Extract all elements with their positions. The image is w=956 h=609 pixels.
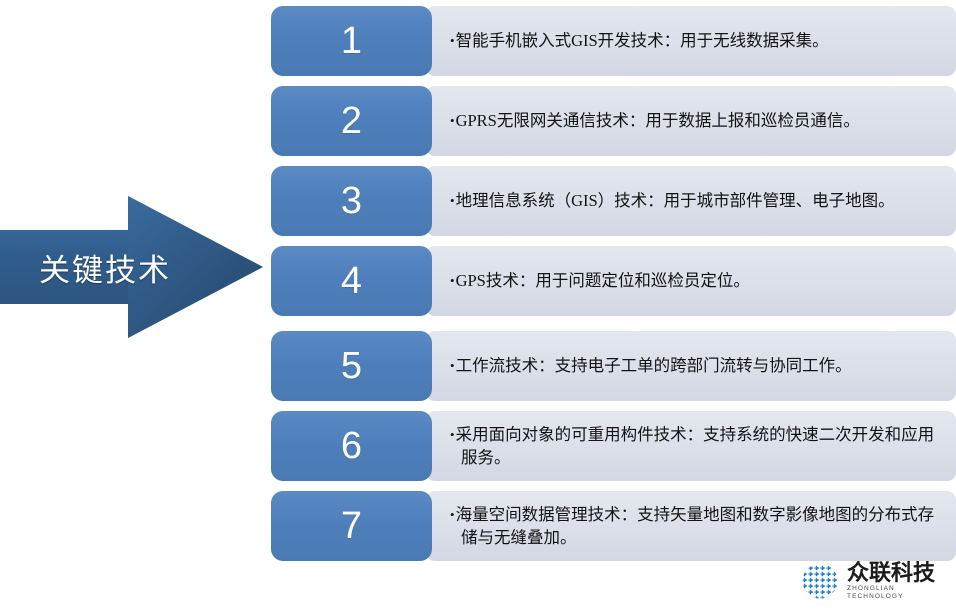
list-item-text-panel: GPRS无限网关通信技术：用于数据上报和巡检员通信。 bbox=[426, 86, 956, 156]
list-item-text: 工作流技术：支持电子工单的跨部门流转与协同工作。 bbox=[450, 354, 852, 377]
list-item-text: 采用面向对象的可重用构件技术：支持系统的快速二次开发和应用服务。 bbox=[450, 423, 942, 470]
list-item-number-badge: 6 bbox=[271, 411, 432, 481]
arrow-label: 关键技术 bbox=[0, 194, 210, 340]
list-item-text: GPRS无限网关通信技术：用于数据上报和巡检员通信。 bbox=[450, 109, 860, 132]
list-item-text-panel: 工作流技术：支持电子工单的跨部门流转与协同工作。 bbox=[426, 331, 956, 401]
list-item-number-badge: 3 bbox=[271, 166, 432, 236]
list-item[interactable]: 2 GPRS无限网关通信技术：用于数据上报和巡检员通信。 bbox=[271, 86, 956, 156]
list-item-number-badge: 2 bbox=[271, 86, 432, 156]
list-item-number-badge: 5 bbox=[271, 331, 432, 401]
list-item-text-panel: 智能手机嵌入式GIS开发技术：用于无线数据采集。 bbox=[426, 6, 956, 76]
list-item-text-panel: GPS技术：用于问题定位和巡检员定位。 bbox=[426, 246, 956, 316]
logo-company-name: 众联科技 bbox=[847, 561, 952, 584]
list-item-text-panel: 地理信息系统（GIS）技术：用于城市部件管理、电子地图。 bbox=[426, 166, 956, 236]
key-technology-list: 1 智能手机嵌入式GIS开发技术：用于无线数据采集。 2 GPRS无限网关通信技… bbox=[271, 0, 956, 570]
dotted-globe-icon bbox=[800, 561, 840, 601]
list-item-number: 2 bbox=[341, 102, 362, 140]
list-item-number-badge: 7 bbox=[271, 491, 432, 561]
list-item-text-panel: 采用面向对象的可重用构件技术：支持系统的快速二次开发和应用服务。 bbox=[426, 411, 956, 481]
list-item-text: 地理信息系统（GIS）技术：用于城市部件管理、电子地图。 bbox=[450, 189, 895, 212]
list-item[interactable]: 5 工作流技术：支持电子工单的跨部门流转与协同工作。 bbox=[271, 331, 956, 401]
list-item-text: GPS技术：用于问题定位和巡检员定位。 bbox=[450, 269, 750, 292]
list-item-number: 3 bbox=[341, 182, 362, 220]
list-item[interactable]: 4 GPS技术：用于问题定位和巡检员定位。 bbox=[271, 246, 956, 316]
brand-logo: 众联科技 ZHONGLIAN TECHNOLOGY bbox=[800, 558, 952, 604]
list-item-text: 海量空间数据管理技术：支持矢量地图和数字影像地图的分布式存储与无缝叠加。 bbox=[450, 503, 942, 550]
key-technology-arrow: 关键技术 bbox=[0, 194, 263, 340]
list-item[interactable]: 1 智能手机嵌入式GIS开发技术：用于无线数据采集。 bbox=[271, 6, 956, 76]
list-item-number: 5 bbox=[341, 347, 362, 385]
logo-company-subtitle: ZHONGLIAN TECHNOLOGY bbox=[847, 585, 952, 601]
list-item[interactable]: 6 采用面向对象的可重用构件技术：支持系统的快速二次开发和应用服务。 bbox=[271, 411, 956, 481]
list-item-number-badge: 4 bbox=[271, 246, 432, 316]
list-item-number-badge: 1 bbox=[271, 6, 432, 76]
list-item-text: 智能手机嵌入式GIS开发技术：用于无线数据采集。 bbox=[450, 29, 829, 52]
list-item-number: 6 bbox=[341, 427, 362, 465]
list-item-text-panel: 海量空间数据管理技术：支持矢量地图和数字影像地图的分布式存储与无缝叠加。 bbox=[426, 491, 956, 561]
list-item-number: 4 bbox=[341, 262, 362, 300]
list-item[interactable]: 7 海量空间数据管理技术：支持矢量地图和数字影像地图的分布式存储与无缝叠加。 bbox=[271, 491, 956, 561]
list-item[interactable]: 3 地理信息系统（GIS）技术：用于城市部件管理、电子地图。 bbox=[271, 166, 956, 236]
logo-text-block: 众联科技 ZHONGLIAN TECHNOLOGY bbox=[847, 561, 952, 601]
list-item-number: 1 bbox=[341, 22, 362, 60]
list-item-number: 7 bbox=[341, 507, 362, 545]
